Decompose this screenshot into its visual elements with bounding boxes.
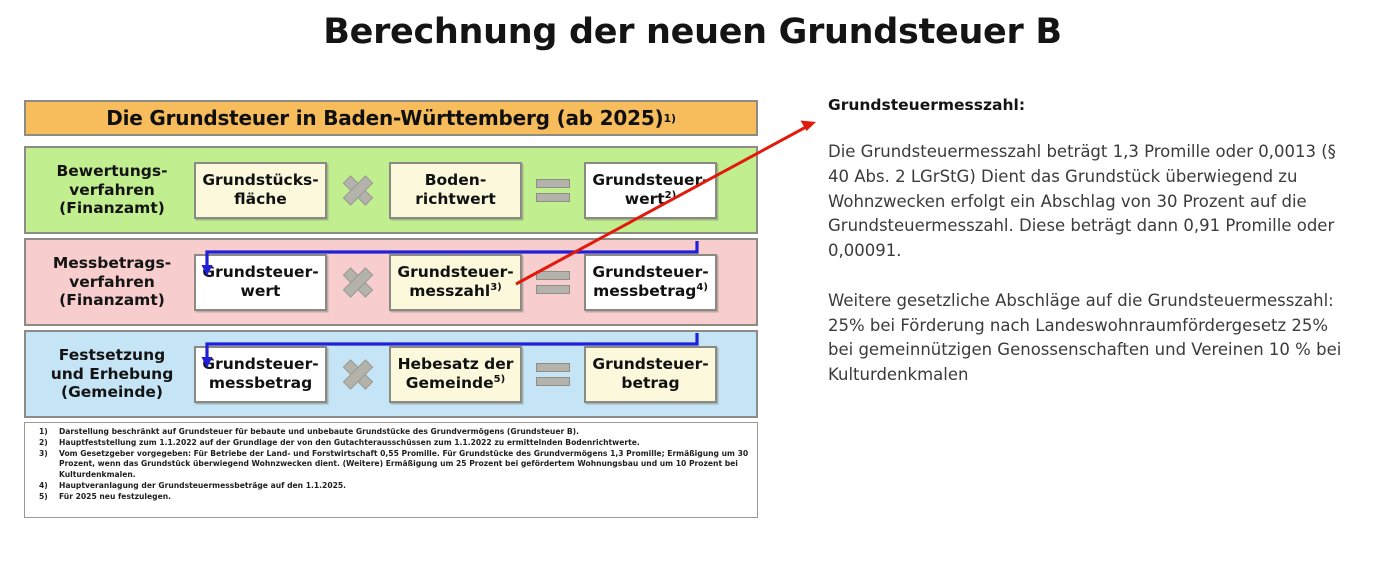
diagram-row-bewertungsverfahren: Bewertungs- verfahren (Finanzamt) Grunds… [24, 146, 758, 234]
node-superscript: 3) [490, 282, 502, 293]
footnote-number: 1) [33, 427, 59, 438]
node-grundsteuermessbetrag-2: Grundsteuer-messbetrag [194, 346, 327, 403]
footnote-number: 3) [33, 449, 59, 481]
diagram-footnotes: 1) Darstellung beschränkt auf Grundsteue… [24, 422, 758, 518]
node-label: Grundsteuer-betrag [592, 355, 708, 392]
equals-icon [536, 179, 570, 202]
footnote-text: Hauptveranlagung der Grundsteuermessbetr… [59, 481, 749, 492]
operator-multiply [327, 267, 389, 297]
node-grundsteuerbetrag: Grundsteuer-betrag [584, 346, 717, 403]
node-bodenrichtwert: Boden-richtwert [389, 162, 522, 219]
diagram-row-festsetzung-und-erhebung: Festsetzung und Erhebung (Gemeinde) Grun… [24, 330, 758, 418]
footnote-number: 2) [33, 438, 59, 449]
node-grundsteuermessbetrag: Grundsteuer-messbetrag4) [584, 254, 717, 311]
row-label-line: Messbetrags- [30, 254, 194, 273]
diagram-row-messbetragsverfahren: Messbetrags- verfahren (Finanzamt) Grund… [24, 238, 758, 326]
panel-heading: Grundsteuermesszahl: [828, 96, 1348, 114]
operator-equals [522, 179, 584, 202]
panel-spacer [828, 264, 1348, 289]
node-superscript: 4) [696, 282, 708, 293]
footnote-item: 3) Vom Gesetzgeber vorgegeben: Für Betri… [33, 449, 749, 481]
node-superscript: 2) [665, 190, 677, 201]
operator-equals [522, 271, 584, 294]
footnote-text: Hauptfeststellung zum 1.1.2022 auf der G… [59, 438, 749, 449]
node-label: Boden-richtwert [415, 171, 495, 208]
diagram-banner-text: Die Grundsteuer in Baden-Württemberg (ab… [106, 106, 663, 130]
footnote-number: 5) [33, 492, 59, 503]
row-label-line: verfahren [30, 273, 194, 292]
equals-icon [536, 363, 570, 386]
operator-multiply [327, 359, 389, 389]
node-label: Grundsteuer-wert2) [592, 171, 708, 208]
diagram-banner: Die Grundsteuer in Baden-Württemberg (ab… [24, 100, 758, 136]
row-label-line: (Finanzamt) [30, 291, 194, 310]
diagram-banner-superscript: 1) [663, 112, 675, 125]
row-label-line: und Erhebung [30, 365, 194, 384]
node-superscript: 5) [494, 374, 506, 385]
page-title: Berechnung der neuen Grundsteuer B [0, 12, 1385, 52]
node-label: Grundstücks-fläche [202, 171, 318, 208]
operator-equals [522, 363, 584, 386]
row-label-line: (Finanzamt) [30, 199, 194, 218]
info-panel: Grundsteuermesszahl: Die Grundsteuermess… [828, 96, 1348, 388]
node-grundstuecksflaeche: Grundstücks-fläche [194, 162, 327, 219]
operator-multiply [327, 175, 389, 205]
node-label: Grundsteuer-wert [202, 263, 318, 300]
multiply-icon [343, 359, 373, 389]
footnote-number: 4) [33, 481, 59, 492]
node-label: Grundsteuer-messbetrag [202, 355, 318, 392]
node-label: Grundsteuer-messzahl3) [397, 263, 513, 300]
row-label-line: Bewertungs- [30, 162, 194, 181]
node-grundsteuermesszahl: Grundsteuer-messzahl3) [389, 254, 522, 311]
row-label-line: Festsetzung [30, 346, 194, 365]
row-label-line: verfahren [30, 181, 194, 200]
equals-icon [536, 271, 570, 294]
footnote-item: 4) Hauptveranlagung der Grundsteuermessb… [33, 481, 749, 492]
footnote-text: Für 2025 neu festzulegen. [59, 492, 749, 503]
node-grundsteuerwert-2: Grundsteuer-wert [194, 254, 327, 311]
footnote-text: Darstellung beschränkt auf Grundsteuer f… [59, 427, 749, 438]
node-label: Hebesatz derGemeinde5) [398, 355, 514, 392]
panel-paragraph-1: Die Grundsteuermesszahl beträgt 1,3 Prom… [828, 140, 1348, 264]
grundsteuer-diagram: Die Grundsteuer in Baden-Württemberg (ab… [24, 100, 762, 520]
node-label: Grundsteuer-messbetrag4) [592, 263, 708, 300]
footnote-item: 2) Hauptfeststellung zum 1.1.2022 auf de… [33, 438, 749, 449]
row-label-festsetzung-und-erhebung: Festsetzung und Erhebung (Gemeinde) [26, 346, 194, 403]
node-hebesatz-der-gemeinde: Hebesatz derGemeinde5) [389, 346, 522, 403]
footnote-text: Vom Gesetzgeber vorgegeben: Für Betriebe… [59, 449, 749, 481]
multiply-icon [343, 175, 373, 205]
row-label-line: (Gemeinde) [30, 383, 194, 402]
footnote-item: 1) Darstellung beschränkt auf Grundsteue… [33, 427, 749, 438]
panel-paragraph-2: Weitere gesetzliche Abschläge auf die Gr… [828, 289, 1348, 388]
node-grundsteuerwert: Grundsteuer-wert2) [584, 162, 717, 219]
row-label-messbetragsverfahren: Messbetrags- verfahren (Finanzamt) [26, 254, 194, 311]
row-label-bewertungsverfahren: Bewertungs- verfahren (Finanzamt) [26, 162, 194, 219]
multiply-icon [343, 267, 373, 297]
footnote-item: 5) Für 2025 neu festzulegen. [33, 492, 749, 503]
